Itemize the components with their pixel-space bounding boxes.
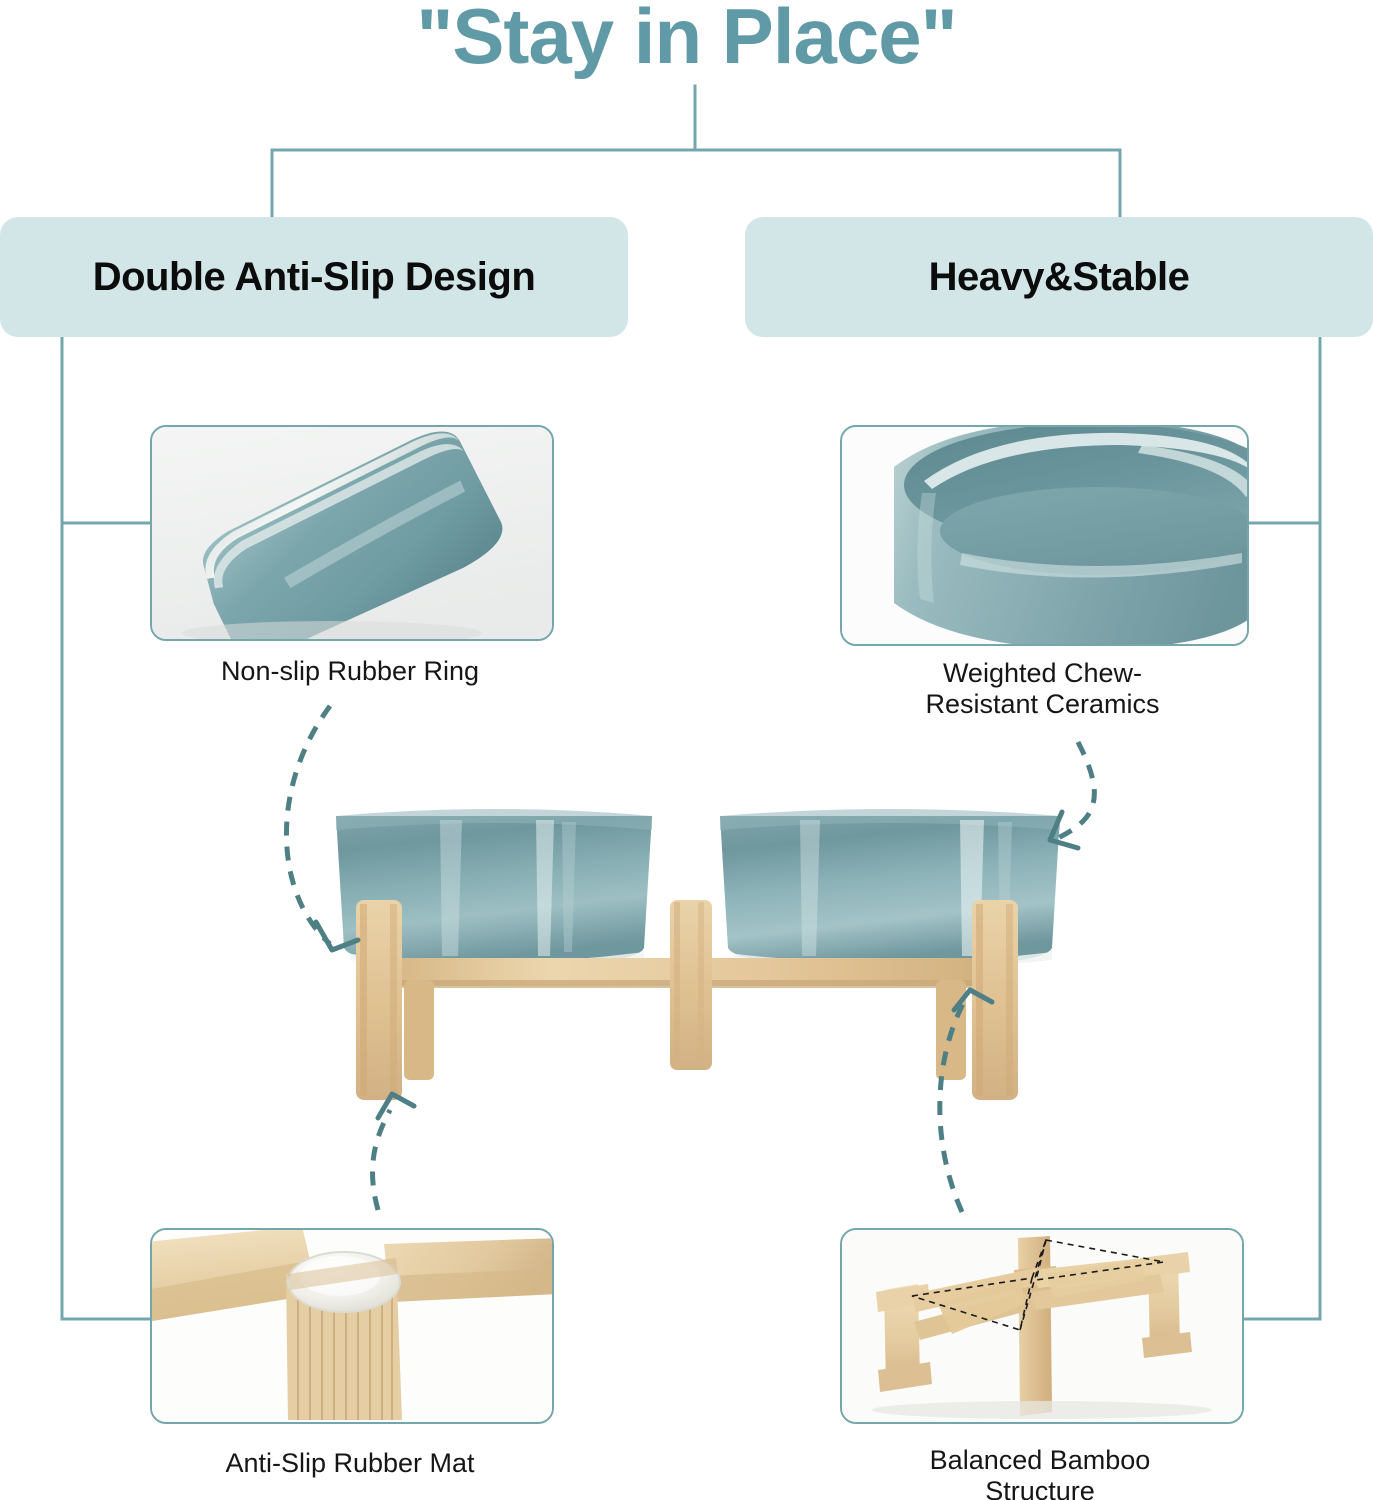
photo-card-anti-slip-rubber-mat: [150, 1228, 554, 1424]
feature-box-double-anti-slip: Double Anti-Slip Design: [0, 217, 628, 337]
card-caption-anti-slip-rubber-mat: Anti-Slip Rubber Mat: [150, 1448, 550, 1479]
page-title: "Stay in Place": [0, 0, 1373, 78]
card-caption-weighted-ceramics: Weighted Chew- Resistant Ceramics: [820, 658, 1265, 721]
bamboo-stand-triangulated-photo: [842, 1230, 1242, 1422]
infographic-page: "Stay in Place" Double Anti-Slip Design …: [0, 0, 1373, 1500]
photo-card-non-slip-rubber-ring: [150, 425, 554, 641]
feature-box-heavy-stable: Heavy&Stable: [745, 217, 1373, 337]
product-photo-elevated-double-bowl: [300, 780, 1100, 1120]
bamboo-leg-rubber-pad-photo: [152, 1230, 552, 1422]
ceramic-bowl-interior-photo: [842, 427, 1247, 644]
photo-card-balanced-bamboo-structure: [840, 1228, 1244, 1424]
photo-card-weighted-ceramics: [840, 425, 1249, 646]
card-caption-balanced-bamboo-structure: Balanced Bamboo Structure: [840, 1445, 1240, 1500]
ceramic-bowl-base-rim-photo: [152, 427, 552, 639]
card-caption-non-slip-rubber-ring: Non-slip Rubber Ring: [150, 656, 550, 687]
arrow-path-rubber-mat: [373, 1110, 390, 1210]
